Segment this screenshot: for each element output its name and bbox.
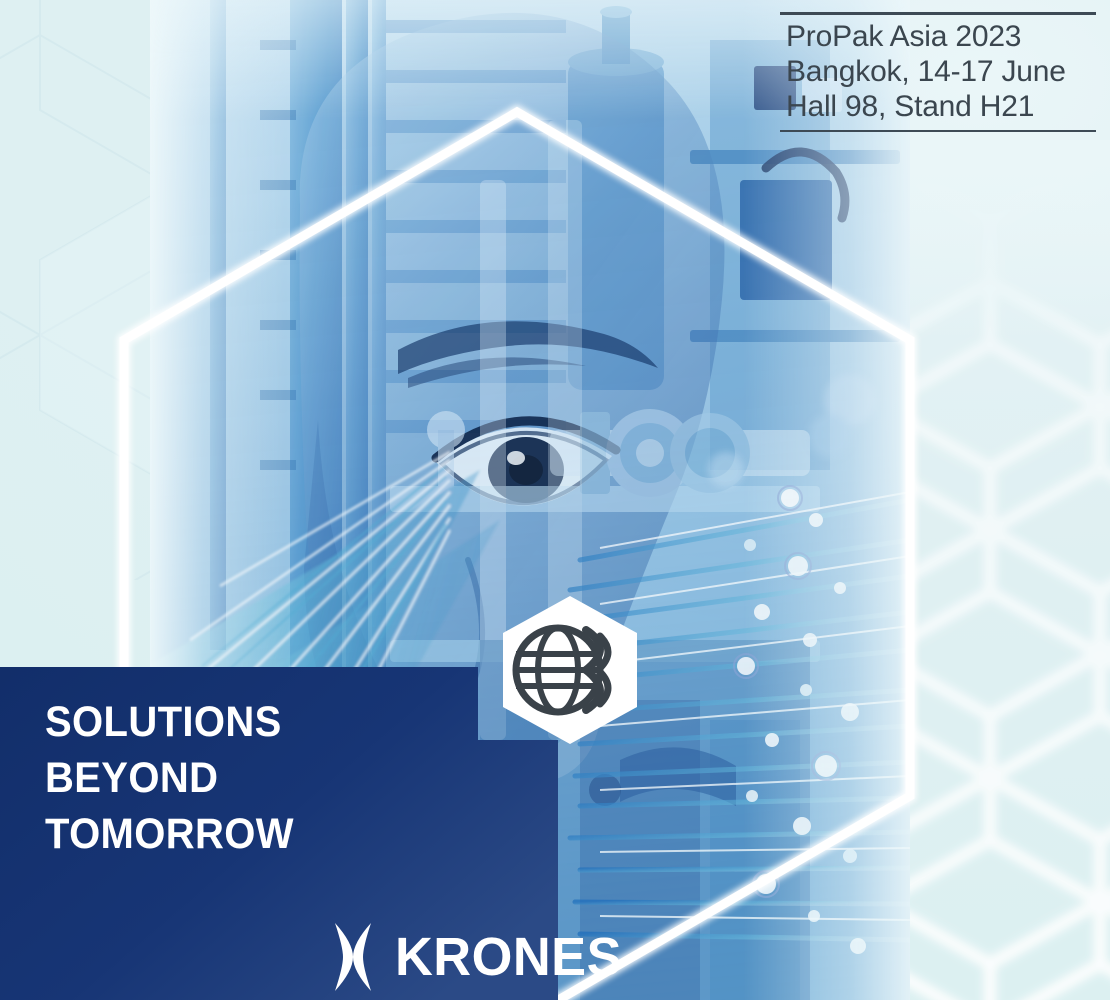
event-rule-bottom <box>780 130 1096 132</box>
tagline-line-2: BEYOND <box>45 750 294 806</box>
krones-wordmark: KRONES <box>395 930 622 984</box>
tagline-line-1: SOLUTIONS <box>45 694 294 750</box>
krones-arc-mark-icon <box>325 921 381 993</box>
tagline-panel-content: SOLUTIONS BEYOND TOMORROW KRONES <box>0 667 560 1000</box>
event-name: ProPak Asia 2023 <box>786 19 1096 54</box>
event-location-date: Bangkok, 14-17 June <box>786 54 1096 89</box>
event-info-block: ProPak Asia 2023 Bangkok, 14-17 June Hal… <box>780 12 1096 132</box>
krones-logo: KRONES <box>325 921 629 993</box>
tagline-text: SOLUTIONS BEYOND TOMORROW <box>45 694 294 862</box>
globe-hexagon-badge <box>492 592 648 748</box>
event-stand: Hall 98, Stand H21 <box>786 89 1096 124</box>
event-info-lines: ProPak Asia 2023 Bangkok, 14-17 June Hal… <box>780 15 1096 126</box>
banner-root: ProPak Asia 2023 Bangkok, 14-17 June Hal… <box>0 0 1110 1000</box>
tagline-line-3: TOMORROW <box>45 806 294 862</box>
